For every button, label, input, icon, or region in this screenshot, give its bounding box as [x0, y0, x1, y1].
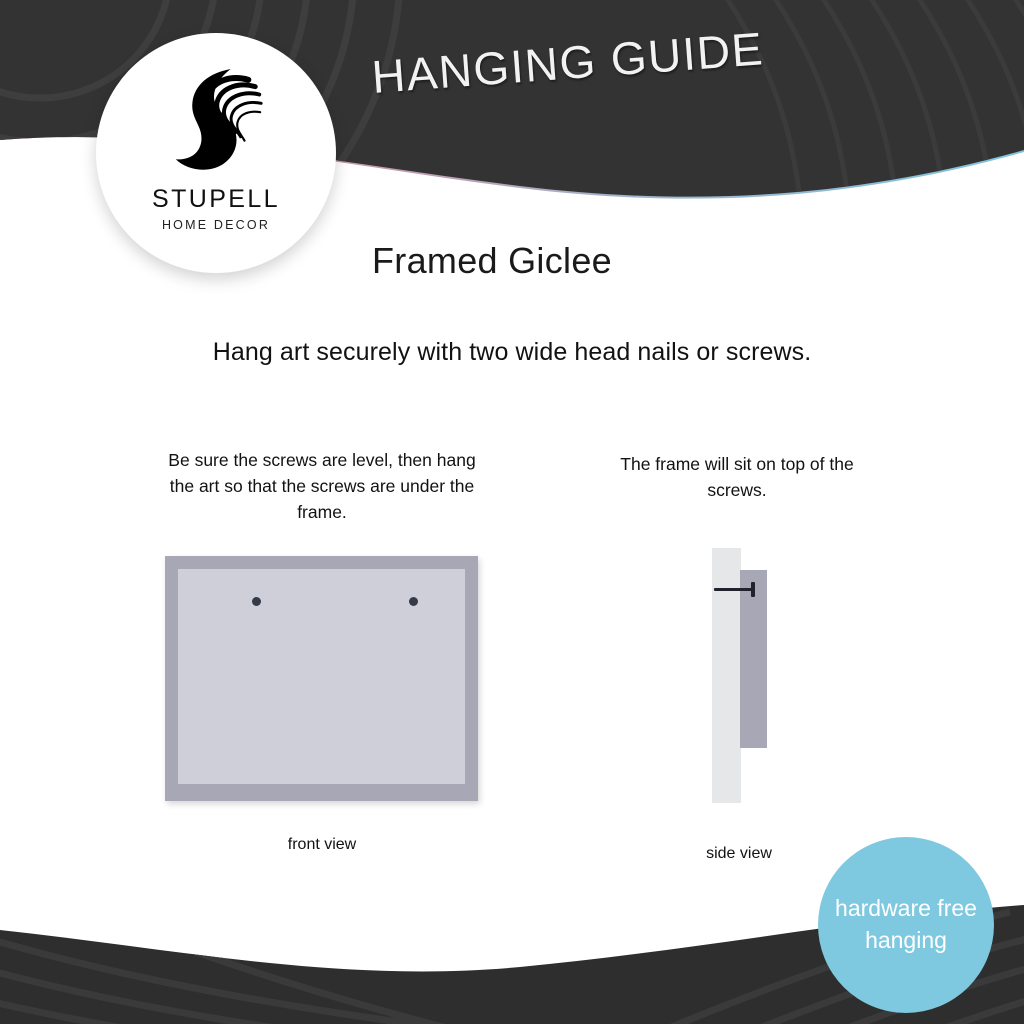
screw-dot-left	[252, 597, 261, 606]
hardware-badge-text: hardware free hanging	[818, 893, 994, 956]
nail-head-icon	[751, 582, 755, 597]
main-instruction-text: Hang art securely with two wide head nai…	[0, 338, 1024, 367]
nail-shaft-icon	[714, 588, 755, 591]
side-view-diagram	[700, 540, 810, 810]
screw-dot-right	[409, 597, 418, 606]
front-view-caption: Be sure the screws are level, then hang …	[166, 448, 478, 526]
product-type-label: Framed Giclee	[372, 240, 612, 282]
side-view-wall	[712, 548, 741, 803]
logo-subwordmark: HOME DECOR	[162, 218, 270, 232]
front-view-label: front view	[166, 836, 478, 854]
front-view-mat	[178, 569, 465, 784]
hardware-free-hanging-badge: hardware free hanging	[818, 837, 994, 1013]
front-view-diagram	[165, 556, 478, 801]
hanging-guide-page: STUPELL HOME DECOR HANGING GUIDE Framed …	[0, 0, 1024, 1024]
stupell-swoosh-icon	[162, 63, 270, 181]
stupell-logo-badge: STUPELL HOME DECOR	[96, 33, 336, 273]
page-title: HANGING GUIDE	[370, 21, 766, 104]
logo-wordmark: STUPELL	[152, 185, 280, 214]
side-view-caption: The frame will sit on top of the screws.	[606, 452, 868, 504]
side-view-label: side view	[608, 845, 870, 863]
